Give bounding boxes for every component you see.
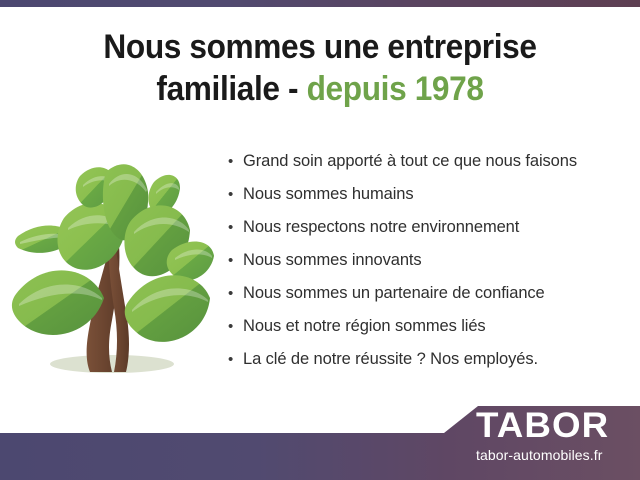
- bullet-icon: •: [228, 347, 243, 373]
- bullet-icon: •: [228, 314, 243, 340]
- tree-illustration: [8, 152, 220, 388]
- list-item: • Nous et notre région sommes liés: [228, 313, 628, 346]
- top-accent-bar: [0, 0, 640, 7]
- list-item-label: Nous respectons notre environnement: [243, 214, 519, 240]
- list-item-label: La clé de notre réussite ? Nos employés.: [243, 346, 538, 372]
- list-item: • Grand soin apporté à tout ce que nous …: [228, 148, 628, 181]
- list-item-label: Nous sommes un partenaire de confiance: [243, 280, 545, 306]
- brand-band: [0, 400, 640, 480]
- list-item: • La clé de notre réussite ? Nos employé…: [228, 346, 628, 379]
- list-item: • Nous sommes humains: [228, 181, 628, 214]
- heading-line-1: Nous sommes une entreprise: [22, 26, 617, 68]
- list-item-label: Grand soin apporté à tout ce que nous fa…: [243, 148, 577, 174]
- bullet-icon: •: [228, 149, 243, 175]
- bullet-icon: •: [228, 215, 243, 241]
- benefits-list: • Grand soin apporté à tout ce que nous …: [228, 148, 628, 379]
- leaf-right-large: [125, 275, 210, 342]
- list-item-label: Nous sommes innovants: [243, 247, 422, 273]
- list-item: • Nous sommes un partenaire de confiance: [228, 280, 628, 313]
- list-item-label: Nous et notre région sommes liés: [243, 313, 486, 339]
- heading-accent-since-1978: depuis 1978: [307, 70, 484, 108]
- bullet-icon: •: [228, 182, 243, 208]
- list-item-label: Nous sommes humains: [243, 181, 414, 207]
- page-title: Nous sommes une entreprise familiale - d…: [22, 26, 617, 110]
- tree-shadow: [50, 355, 174, 373]
- heading-line-2: familiale - depuis 1978: [22, 68, 617, 110]
- list-item: • Nous respectons notre environnement: [228, 214, 628, 247]
- list-item: • Nous sommes innovants: [228, 247, 628, 280]
- heading-line-2-main: familiale -: [156, 70, 306, 108]
- brand-band-shape: [0, 406, 640, 480]
- bullet-icon: •: [228, 248, 243, 274]
- slide-canvas: Nous sommes une entreprise familiale - d…: [0, 0, 640, 480]
- bullet-icon: •: [228, 281, 243, 307]
